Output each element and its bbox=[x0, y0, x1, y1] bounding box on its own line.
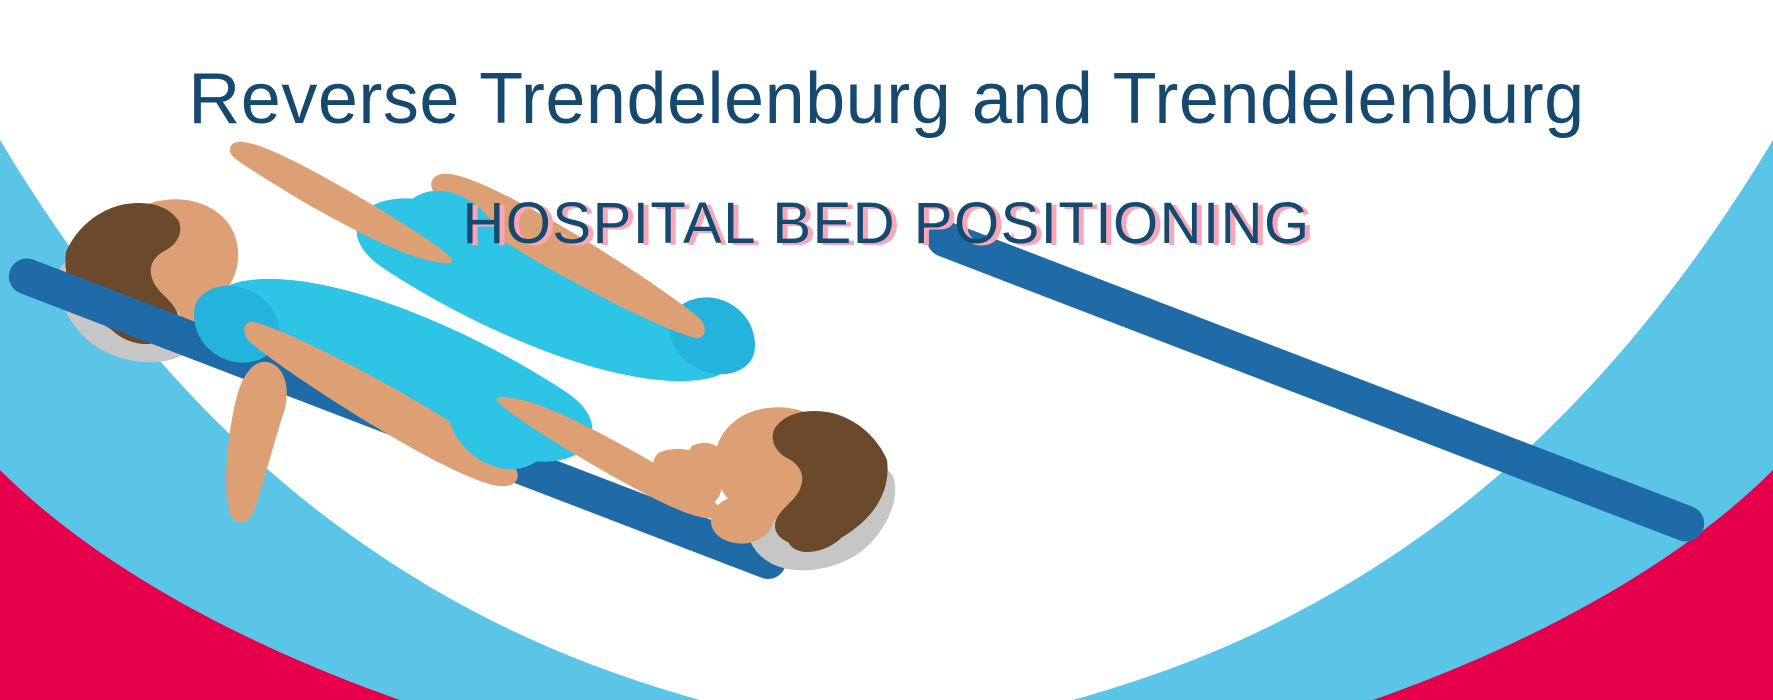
banner-illustration: Reverse Trendelenburg and Trendelenburg … bbox=[0, 0, 1773, 700]
illustration-canvas bbox=[0, 0, 1773, 700]
